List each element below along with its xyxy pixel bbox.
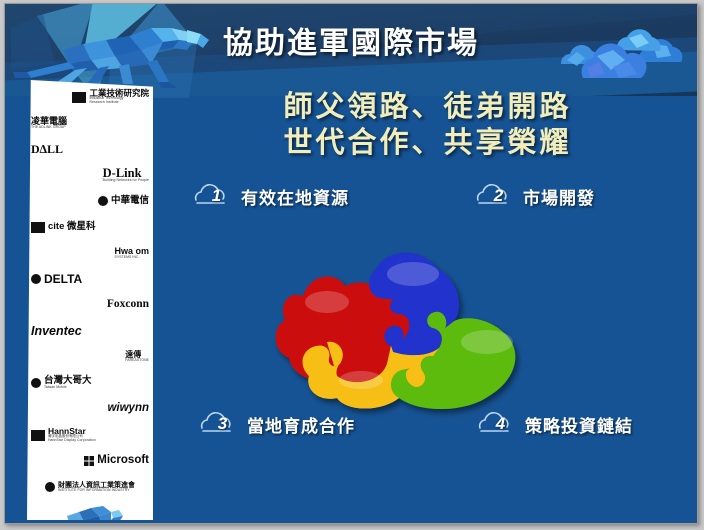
hwacom-tagline: SYSTEMS INC. xyxy=(114,256,139,260)
wiwynn-text-block: wiwynn xyxy=(107,403,149,415)
hannstar-tagline: HannStar Display Corporation xyxy=(48,439,96,443)
iii-tagline: INSTITUTE FOR INFORMATION INDUSTRY xyxy=(58,489,130,493)
caption-1-number: 1 xyxy=(191,182,233,210)
subtitle-line-2: 世代合作、共享榮耀 xyxy=(155,126,698,162)
logo-inventec: Inventec xyxy=(27,318,153,344)
page-title: 協助進軍國際市場 xyxy=(5,18,697,62)
adlink-tagline: THE ADLINK GROUP xyxy=(31,126,66,130)
cloud-leopard-icon xyxy=(53,504,127,520)
caption-2-number: 2 xyxy=(473,182,515,210)
hwacom-text-block: Hwa omSYSTEMS INC. xyxy=(114,247,149,260)
delta-wordmark: DELTA xyxy=(44,273,82,285)
logo-microsoft: Microsoft xyxy=(27,448,153,474)
cloud-outline-icon: 4 xyxy=(475,410,517,438)
delta-mark-icon xyxy=(31,274,41,284)
logo-taiwan-mobile: 台灣大哥大Taiwan Mobile xyxy=(27,370,153,396)
microsoft-wordmark: Microsoft xyxy=(97,455,149,467)
caption-1: 1 有效在地資源 xyxy=(191,182,349,210)
logo-dell: D∆LL xyxy=(27,136,153,162)
microsoft-mark-icon xyxy=(84,456,94,466)
fareastone-tagline: FAREASTONE xyxy=(125,359,149,363)
inventec-text-block: Inventec xyxy=(31,325,82,338)
dell-wordmark: D∆LL xyxy=(31,143,63,155)
delta-text-block: DELTA xyxy=(44,273,82,285)
caption-2-label: 市場開發 xyxy=(523,184,595,209)
subtitle-block: 師父領路、徒弟開路 世代合作、共享榮耀 xyxy=(155,90,698,162)
cite-text-block: cite 微星科 xyxy=(48,222,96,232)
microsoft-text-block: Microsoft xyxy=(97,455,149,467)
caption-3-number: 3 xyxy=(197,410,239,438)
logo-cite: cite 微星科 xyxy=(27,214,153,240)
chunghwa-telecom-text-block: 中華電信 xyxy=(111,196,149,206)
foxconn-wordmark: Foxconn xyxy=(107,299,149,311)
taiwan-mobile-mark-icon xyxy=(31,378,41,388)
caption-3-label: 當地育成合作 xyxy=(247,412,355,437)
iii-text-block: 財團法人資訊工業策進會INSTITUTE FOR INFORMATION IND… xyxy=(58,482,135,493)
d-link-text-block: D-LinkBuilding Networks for People xyxy=(103,167,149,183)
partner-logo-panel: 工業技術研究院Industrial TechnologyResearch Ins… xyxy=(27,80,153,520)
caption-1-label: 有效在地資源 xyxy=(241,184,349,209)
logo-delta: DELTA xyxy=(27,266,153,292)
inventec-wordmark: Inventec xyxy=(31,325,82,338)
caption-3: 3 當地育成合作 xyxy=(197,410,355,438)
chunghwa-telecom-mark-icon xyxy=(98,196,108,206)
logo-foxconn: Foxconn xyxy=(27,292,153,318)
iii-mark-icon xyxy=(45,482,55,492)
itri-tagline: Research Institute xyxy=(89,101,118,105)
taiwan-mobile-text-block: 台灣大哥大Taiwan Mobile xyxy=(44,376,92,389)
logo-fareastone: 遠傳FAREASTONE xyxy=(27,344,153,370)
cloud-puzzle-graphic xyxy=(241,222,571,422)
slide-content: 協助進軍國際市場 師父領路、徒弟開路 世代合作、共享榮耀 工業技術研究院Indu… xyxy=(4,3,698,524)
partner-logo-list: 工業技術研究院Industrial TechnologyResearch Ins… xyxy=(27,80,153,520)
cloud-outline-icon: 2 xyxy=(473,182,515,210)
logo-chunghwa-telecom: 中華電信 xyxy=(27,188,153,214)
itri-text-block: 工業技術研究院Industrial TechnologyResearch Ins… xyxy=(89,89,149,105)
logo-hannstar: HannStar瀚宇彩晶股份有限公司HannStar Display Corpo… xyxy=(27,422,153,448)
logo-itri: 工業技術研究院Industrial TechnologyResearch Ins… xyxy=(27,84,153,110)
caption-2: 2 市場開發 xyxy=(473,182,595,210)
fareastone-text-block: 遠傳FAREASTONE xyxy=(125,351,149,363)
logo-wiwynn: wiwynn xyxy=(27,396,153,422)
logo-adlink: 凌華電腦THE ADLINK GROUP xyxy=(27,110,153,136)
cite-mark-icon xyxy=(31,222,45,233)
hannstar-text-block: HannStar瀚宇彩晶股份有限公司HannStar Display Corpo… xyxy=(48,427,96,443)
logo-iii: 財團法人資訊工業策進會INSTITUTE FOR INFORMATION IND… xyxy=(27,474,153,500)
cloud-outline-icon: 1 xyxy=(191,182,233,210)
foxconn-text-block: Foxconn xyxy=(107,299,149,311)
chunghwa-telecom-wordmark: 中華電信 xyxy=(111,196,149,206)
wiwynn-wordmark: wiwynn xyxy=(107,403,149,415)
cloud-outline-icon: 3 xyxy=(197,410,239,438)
dell-text-block: D∆LL xyxy=(31,143,63,155)
slide-canvas: 協助進軍國際市場 師父領路、徒弟開路 世代合作、共享榮耀 工業技術研究院Indu… xyxy=(0,0,704,530)
logo-hwacom: Hwa omSYSTEMS INC. xyxy=(27,240,153,266)
itri-mark-icon xyxy=(72,92,86,103)
caption-4-number: 4 xyxy=(475,410,517,438)
subtitle-line-1: 師父領路、徒弟開路 xyxy=(155,90,698,126)
taiwan-mobile-tagline: Taiwan Mobile xyxy=(44,386,67,390)
caption-4: 4 策略投資鏈結 xyxy=(475,410,633,438)
logo-cloud-leopard-incubation: 雲豹育成 xyxy=(27,502,153,520)
hannstar-mark-icon xyxy=(31,430,45,441)
adlink-text-block: 凌華電腦THE ADLINK GROUP xyxy=(31,117,67,130)
caption-4-label: 策略投資鏈結 xyxy=(525,412,633,437)
d-link-tagline: Building Networks for People xyxy=(103,179,149,183)
logo-d-link: D-LinkBuilding Networks for People xyxy=(27,162,153,188)
cite-wordmark: cite 微星科 xyxy=(48,222,96,232)
